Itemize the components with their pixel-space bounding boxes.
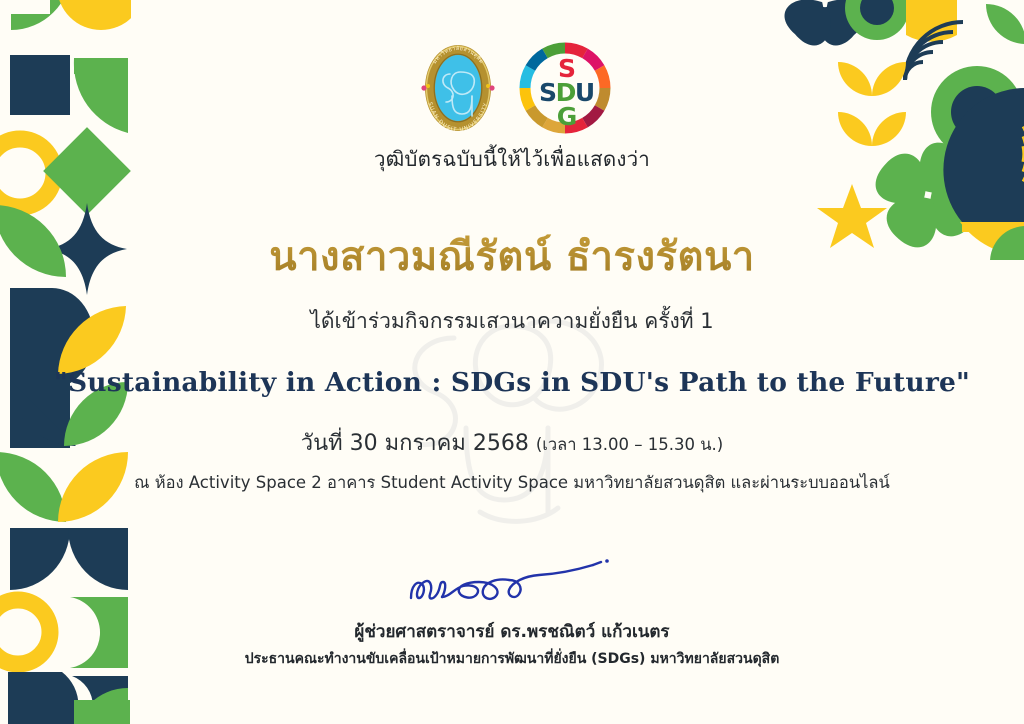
event-date-text: วันที่ 30 มกราคม 2568 bbox=[301, 431, 529, 456]
event-title: "Sustainability in Action : SDGs in SDU'… bbox=[0, 367, 1024, 398]
event-venue: ณ ห้อง Activity Space 2 อาคาร Student Ac… bbox=[0, 470, 1024, 496]
recipient-name: นางสาวมณีรัตน์ ธำรงรัตนา bbox=[0, 224, 1024, 288]
certificate-subtitle: วุฒิบัตรฉบับนี้ให้ไว้เพื่อแสดงว่า bbox=[0, 143, 1024, 176]
signature-block: ผู้ช่วยศาสตราจารย์ ดร.พรชณิตว์ แก้วเนตร … bbox=[0, 556, 1024, 670]
signer-name: ผู้ช่วยศาสตราจารย์ ดร.พรชณิตว์ แก้วเนตร bbox=[0, 618, 1024, 645]
event-time-text: (เวลา 13.00 – 15.30 น.) bbox=[536, 435, 723, 454]
handwritten-signature-icon bbox=[397, 556, 627, 612]
activity-description: ได้เข้าร่วมกิจกรรมเสวนาความยั่งยืน ครั้ง… bbox=[0, 305, 1024, 338]
event-date-line: วันที่ 30 มกราคม 2568 (เวลา 13.00 – 15.3… bbox=[0, 425, 1024, 460]
certificate-page: มหาวิทยาลัยสวนดุสิต SUAN DUSIT UNIVERSIT… bbox=[0, 0, 1024, 724]
signer-title: ประธานคณะทำงานขับเคลื่อนเป้าหมายการพัฒนา… bbox=[0, 648, 1024, 670]
